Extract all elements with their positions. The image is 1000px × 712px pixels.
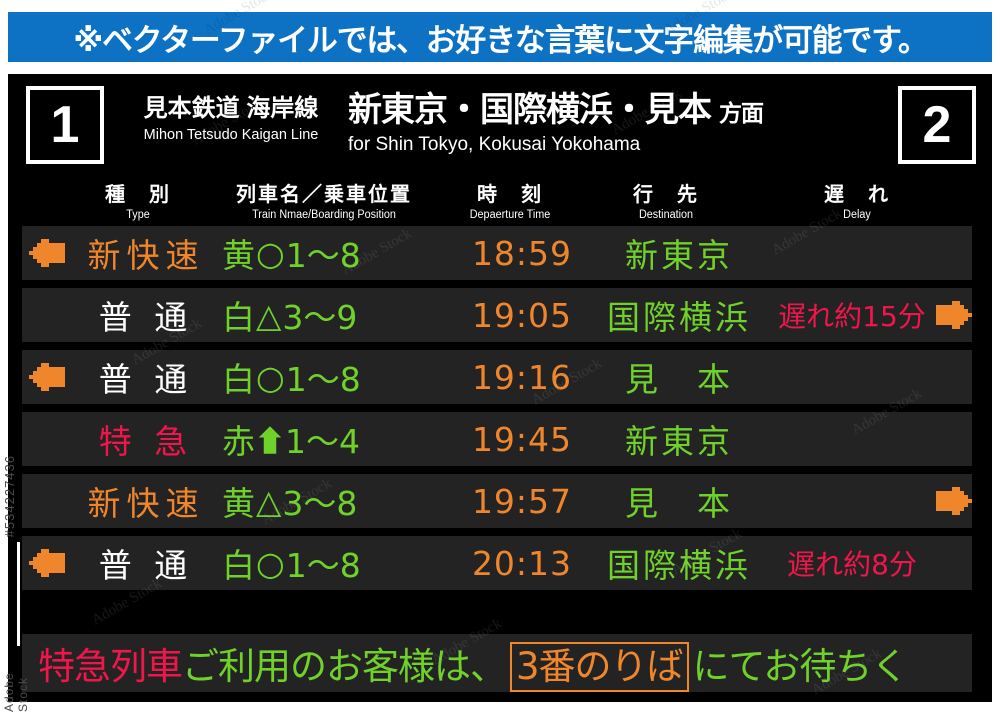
train-color-label: 赤 (222, 415, 255, 463)
ticker-part3: にてお待ちく (693, 645, 908, 688)
destination: 国際横浜 (594, 536, 764, 590)
delay-text (766, 226, 938, 280)
column-header-train-ja: 列車名／乗車位置 (214, 178, 434, 207)
train-type: 普 通 (70, 288, 222, 342)
departure-time: 18:59 (450, 226, 594, 280)
line-name-en: Mihon Tetsudo Kaigan Line (120, 127, 342, 143)
delay-text: 遅れ約8分 (766, 536, 938, 590)
delay-text (766, 474, 938, 528)
arrow-left-slot (24, 474, 70, 528)
boarding-mark-up-arrow (257, 424, 283, 454)
platform-number-right: 2 (898, 86, 976, 164)
destination-heading-main: 新東京・国際横浜・見本 (348, 91, 711, 129)
destination-block: 新東京・国際横浜・見本方面 for Shin Tokyo, Kokusai Yo… (348, 82, 888, 156)
departure-time: 19:57 (450, 474, 594, 528)
departure-rows: 新快速黄○1～818:59新東京普 通白△3～919:05国際横浜遅れ約15分普… (8, 226, 992, 598)
scrolling-message: 特急列車ご利用のお客様は、3番のりばにてお待ちく (22, 634, 972, 692)
train-color-label: 白 (222, 291, 255, 339)
boarding-mark-triangle: △ (256, 482, 281, 521)
delay-text: 遅れ約15分 (766, 288, 938, 342)
destination: 見 本 (594, 350, 764, 404)
column-header-destination-ja: 行 先 (586, 178, 746, 207)
train-color-label: 黄 (222, 229, 255, 277)
train-type: 普 通 (70, 350, 222, 404)
arrow-right-slot (934, 350, 974, 404)
board-header: 1 見本鉄道 海岸線 Mihon Tetsudo Kaigan Line 新東京… (8, 74, 992, 179)
arrow-right-slot (934, 536, 974, 590)
banner-text: ※ベクターファイルでは、お好きな言葉に文字編集が可能です。 (73, 15, 927, 60)
destination-heading-suffix: 方面 (719, 100, 763, 126)
ticker-boxed-platform: 3番のりば (510, 642, 689, 692)
arrow-left-slot (24, 288, 70, 342)
arrow-left-icon (24, 226, 70, 280)
arrow-right-icon (934, 474, 974, 528)
departure-time: 19:16 (450, 350, 594, 404)
arrow-left-icon (24, 536, 70, 590)
ticker-part2: ご利用のお客様は、 (182, 645, 506, 688)
boarding-position-range: 1～8 (286, 539, 361, 587)
arrow-right-icon (934, 288, 974, 342)
boarding-mark-triangle: △ (256, 296, 281, 335)
departure-row: 新快速黄○1～818:59新東京 (22, 226, 972, 280)
stock-id-label: #534227436 (2, 455, 17, 537)
column-header-destination-en: Destination (591, 209, 741, 221)
destination: 新東京 (594, 412, 764, 466)
column-header-destination: 行 先 Destination (586, 178, 746, 221)
departure-time: 19:45 (450, 412, 594, 466)
column-header-type: 種 別 Type (70, 178, 206, 221)
train-color-label: 黄 (222, 477, 255, 525)
departure-time: 19:05 (450, 288, 594, 342)
train-name-and-boarding-position: 白△3～9 (222, 288, 450, 342)
column-header-time: 時 刻 Depaerture Time (440, 178, 580, 221)
destination: 見 本 (594, 474, 764, 528)
scrolling-message-text: 特急列車ご利用のお客様は、3番のりばにてお待ちく (22, 636, 907, 690)
arrow-left-icon (24, 350, 70, 404)
departure-board: 1 見本鉄道 海岸線 Mihon Tetsudo Kaigan Line 新東京… (8, 74, 992, 702)
train-color-label: 白 (222, 539, 255, 587)
train-type: 新快速 (70, 474, 222, 528)
destination: 国際横浜 (594, 288, 764, 342)
train-name-and-boarding-position: 黄○1～8 (222, 226, 450, 280)
delay-text (766, 350, 938, 404)
train-name-and-boarding-position: 白○1～8 (222, 350, 450, 404)
boarding-position-range: 1～4 (285, 415, 360, 463)
column-header-type-en: Type (74, 209, 202, 221)
boarding-mark-circle: ○ (256, 544, 285, 583)
departure-time: 20:13 (450, 536, 594, 590)
side-marker (17, 542, 20, 646)
vector-edit-banner: ※ベクターファイルでは、お好きな言葉に文字編集が可能です。 (8, 12, 992, 62)
arrow-left-slot (24, 412, 70, 466)
train-type: 新快速 (70, 226, 222, 280)
departure-row: 新快速黄△3～819:57見 本 (22, 474, 972, 528)
train-name-and-boarding-position: 赤 1～4 (222, 412, 450, 466)
destination: 新東京 (594, 226, 764, 280)
column-header-train-en: Train Nmae/Boarding Position (221, 209, 428, 221)
boarding-position-range: 3～9 (282, 291, 357, 339)
arrow-right-slot (934, 226, 974, 280)
departure-row: 普 通白△3～919:05国際横浜遅れ約15分 (22, 288, 972, 342)
column-header-train: 列車名／乗車位置 Train Nmae/Boarding Position (214, 178, 434, 221)
platform-number-left: 1 (26, 86, 104, 164)
train-color-label: 白 (222, 353, 255, 401)
arrow-right-slot (934, 412, 974, 466)
column-header-delay-ja: 遅 れ (752, 178, 962, 207)
boarding-position-range: 3～8 (282, 477, 357, 525)
column-header-type-ja: 種 別 (70, 178, 206, 207)
boarding-position-range: 1～8 (286, 229, 361, 277)
departure-row: 特 急赤 1～419:45新東京 (22, 412, 972, 466)
departure-row: 普 通白○1～819:16見 本 (22, 350, 972, 404)
column-headers: 種 別 Type 列車名／乗車位置 Train Nmae/Boarding Po… (8, 178, 992, 226)
column-header-delay-en: Delay (758, 209, 955, 221)
ticker-part1: 特急列車 (38, 645, 182, 688)
stock-brand-label: Adobe Stock (2, 640, 30, 712)
train-name-and-boarding-position: 黄△3～8 (222, 474, 450, 528)
destination-heading-ja: 新東京・国際横浜・見本方面 (348, 82, 888, 131)
train-name-and-boarding-position: 白○1～8 (222, 536, 450, 590)
column-header-time-en: Depaerture Time (444, 209, 576, 221)
departure-row: 普 通白○1～820:13国際横浜遅れ約8分 (22, 536, 972, 590)
line-name-block: 見本鉄道 海岸線 Mihon Tetsudo Kaigan Line (120, 88, 342, 143)
line-name-ja: 見本鉄道 海岸線 (120, 88, 342, 123)
column-header-time-ja: 時 刻 (440, 178, 580, 207)
boarding-position-range: 1～8 (286, 353, 361, 401)
train-type: 普 通 (70, 536, 222, 590)
train-type: 特 急 (70, 412, 222, 466)
boarding-mark-circle: ○ (256, 234, 285, 273)
boarding-mark-circle: ○ (256, 358, 285, 397)
column-header-delay: 遅 れ Delay (752, 178, 962, 221)
delay-text (766, 412, 938, 466)
destination-heading-en: for Shin Tokyo, Kokusai Yokohama (348, 134, 888, 156)
